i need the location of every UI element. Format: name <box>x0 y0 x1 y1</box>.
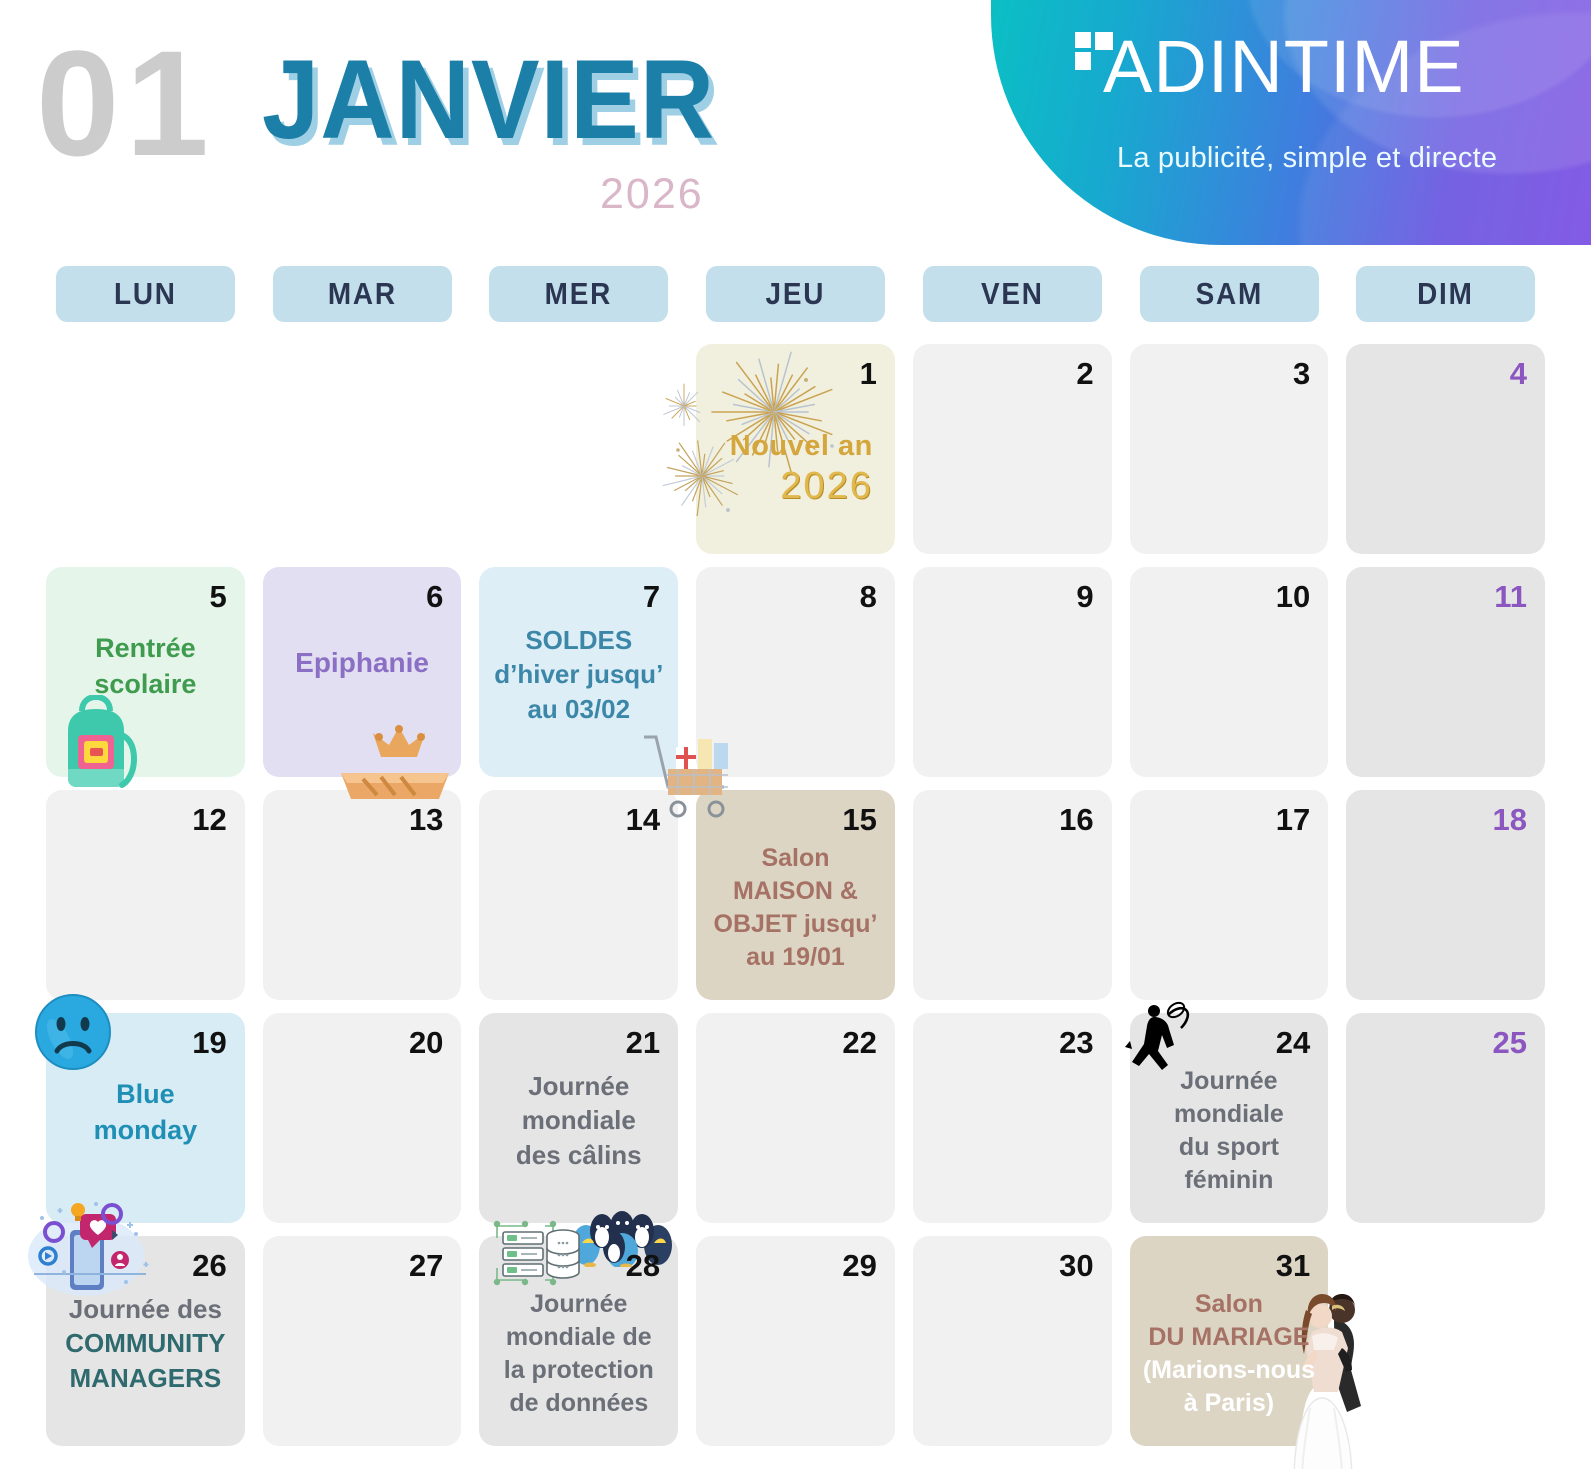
event-line: SOLDES <box>489 623 668 657</box>
calendar-day-5[interactable]: 5Rentréescolaire <box>46 567 245 777</box>
day-number-12: 12 <box>192 804 226 835</box>
day-number-29: 29 <box>842 1250 876 1281</box>
event-line: MANAGERS <box>56 1361 235 1395</box>
day-number-23: 23 <box>1059 1027 1093 1058</box>
day-number-4: 4 <box>1510 358 1527 389</box>
event-line: du sport <box>1140 1131 1319 1164</box>
calendar-day-14[interactable]: 14 <box>479 790 678 1000</box>
logo-tagline: La publicité, simple et directe <box>1117 142 1497 175</box>
calendar-day-10[interactable]: 10 <box>1130 567 1329 777</box>
event-line: féminin <box>1140 1164 1319 1197</box>
calendar-day-6[interactable]: 6Epiphanie <box>263 567 462 777</box>
event-line: Epiphanie <box>273 645 452 682</box>
calendar-day-13[interactable]: 13 <box>263 790 462 1000</box>
day-number-16: 16 <box>1059 804 1093 835</box>
day-number-26: 26 <box>192 1250 226 1281</box>
calendar-day-25[interactable]: 25 <box>1346 1013 1545 1223</box>
event-line: d’hiver jusqu’ <box>489 657 668 691</box>
event-line: la protection <box>489 1354 668 1387</box>
day-number-2: 2 <box>1076 358 1093 389</box>
event-line: 2026 <box>704 465 873 508</box>
event-text-day-31: SalonDU MARIAGE(Marions-nousà Paris) <box>1136 1288 1323 1420</box>
calendar-day-23[interactable]: 23 <box>913 1013 1112 1223</box>
day-number-31: 31 <box>1276 1250 1310 1281</box>
event-text-day-7: SOLDESd’hiver jusqu’au 03/02 <box>485 623 672 726</box>
day-number-14: 14 <box>626 804 660 835</box>
logo-wordmark: ADINTIME <box>1103 30 1465 104</box>
calendar-cell-empty <box>263 344 462 554</box>
event-text-day-28: Journéemondiale dela protectionde donnée… <box>485 1288 672 1420</box>
event-line: monday <box>56 1113 235 1149</box>
day-number-5: 5 <box>209 581 226 612</box>
event-text-day-6: Epiphanie <box>269 645 456 682</box>
event-text-day-15: SalonMAISON &OBJET jusqu’au 19/01 <box>702 842 889 974</box>
backpack-icon <box>48 695 144 791</box>
event-line: des câlins <box>489 1138 668 1172</box>
calendar-day-19[interactable]: 19Bluemonday <box>46 1013 245 1223</box>
day-number-3: 3 <box>1293 358 1310 389</box>
day-number-25: 25 <box>1493 1027 1527 1058</box>
sad-face-icon <box>34 993 112 1071</box>
event-line: mondiale <box>489 1103 668 1137</box>
event-line: Salon <box>1140 1288 1319 1321</box>
calendar-day-16[interactable]: 16 <box>913 790 1112 1000</box>
calendar-day-20[interactable]: 20 <box>263 1013 462 1223</box>
day-number-15: 15 <box>842 804 876 835</box>
calendar-day-4[interactable]: 4 <box>1346 344 1545 554</box>
weekday-header-mer: MER <box>489 266 668 322</box>
day-number-10: 10 <box>1276 581 1310 612</box>
event-line: DU MARIAGE <box>1140 1321 1319 1354</box>
month-name: JANVIER <box>262 44 715 156</box>
calendar-day-12[interactable]: 12 <box>46 790 245 1000</box>
page-header: 01 JANVIER 2026 ADINTIME La publicité, s… <box>0 0 1591 252</box>
calendar-day-21[interactable]: 21Journéemondialedes câlins <box>479 1013 678 1223</box>
event-line: scolaire <box>56 667 235 703</box>
day-number-1: 1 <box>860 358 877 389</box>
calendar-day-8[interactable]: 8 <box>696 567 895 777</box>
event-line: (Marions-nous <box>1140 1354 1319 1387</box>
calendar-day-22[interactable]: 22 <box>696 1013 895 1223</box>
day-number-18: 18 <box>1493 804 1527 835</box>
event-line: Salon <box>706 842 885 875</box>
event-line: Journée des <box>56 1292 235 1326</box>
weekday-header-mar: MAR <box>273 266 452 322</box>
event-text-day-21: Journéemondialedes câlins <box>485 1069 672 1172</box>
event-line: Blue <box>56 1077 235 1113</box>
day-number-22: 22 <box>842 1027 876 1058</box>
weekday-header-row: LUNMARMERJEUVENSAMDIM <box>0 266 1591 322</box>
day-number-17: 17 <box>1276 804 1310 835</box>
event-line: mondiale <box>1140 1098 1319 1131</box>
calendar-day-7[interactable]: 7SOLDESd’hiver jusqu’au 03/02 <box>479 567 678 777</box>
event-line: mondiale de <box>489 1321 668 1354</box>
event-text-day-19: Bluemonday <box>52 1077 239 1148</box>
calendar-day-26[interactable]: 26Journée desCOMMUNITYMANAGERS <box>46 1236 245 1446</box>
day-number-21: 21 <box>626 1027 660 1058</box>
day-number-19: 19 <box>192 1027 226 1058</box>
calendar-grid: 1Nouvel an20262345Rentréescolaire6Epipha… <box>0 344 1591 1446</box>
day-number-20: 20 <box>409 1027 443 1058</box>
calendar-day-24[interactable]: 24Journéemondialedu sportféminin <box>1130 1013 1329 1223</box>
day-number-7: 7 <box>643 581 660 612</box>
event-line: Rentrée <box>56 631 235 667</box>
day-number-11: 11 <box>1494 581 1527 612</box>
event-text-day-5: Rentréescolaire <box>52 631 239 702</box>
event-line: au 19/01 <box>706 941 885 974</box>
event-line: Nouvel an <box>704 430 873 463</box>
event-line: au 03/02 <box>489 692 668 726</box>
calendar-cell-empty <box>1346 1236 1545 1446</box>
calendar-day-1[interactable]: 1Nouvel an2026 <box>696 344 895 554</box>
calendar-day-17[interactable]: 17 <box>1130 790 1329 1000</box>
event-line: Journée <box>489 1069 668 1103</box>
day-number-28: 28 <box>626 1250 660 1281</box>
event-line: Journée <box>1140 1065 1319 1098</box>
calendar-day-2[interactable]: 2 <box>913 344 1112 554</box>
event-line: COMMUNITY <box>56 1326 235 1360</box>
month-number: 01 <box>36 28 215 178</box>
day-number-9: 9 <box>1076 581 1093 612</box>
event-line: Journée <box>489 1288 668 1321</box>
event-text-day-24: Journéemondialedu sportféminin <box>1136 1065 1323 1197</box>
year-label: 2026 <box>600 170 704 219</box>
brand-logo: ADINTIME La publicité, simple et directe <box>991 0 1591 245</box>
weekday-header-sam: SAM <box>1139 266 1318 322</box>
day-number-24: 24 <box>1276 1027 1310 1058</box>
weekday-header-jeu: JEU <box>706 266 885 322</box>
day-number-30: 30 <box>1059 1250 1093 1281</box>
event-text-day-26: Journée desCOMMUNITYMANAGERS <box>52 1292 239 1395</box>
calendar-day-28[interactable]: 28Journéemondiale dela protectionde donn… <box>479 1236 678 1446</box>
calendar-cell-empty <box>46 344 245 554</box>
calendar-day-27[interactable]: 27 <box>263 1236 462 1446</box>
event-line: à Paris) <box>1140 1387 1319 1420</box>
event-line: OBJET jusqu’ <box>706 908 885 941</box>
day-number-27: 27 <box>409 1250 443 1281</box>
calendar-day-11[interactable]: 11 <box>1346 567 1545 777</box>
calendar-day-3[interactable]: 3 <box>1130 344 1329 554</box>
calendar-cell-empty <box>479 344 678 554</box>
event-line: MAISON & <box>706 875 885 908</box>
day-number-13: 13 <box>409 804 443 835</box>
event-nouvel-an: Nouvel an2026 <box>704 430 887 508</box>
weekday-header-ven: VEN <box>923 266 1102 322</box>
calendar-page: 01 JANVIER 2026 ADINTIME La publicité, s… <box>0 0 1591 1469</box>
calendar-day-15[interactable]: 15SalonMAISON &OBJET jusqu’au 19/01 <box>696 790 895 1000</box>
weekday-header-lun: LUN <box>56 266 235 322</box>
weekday-header-dim: DIM <box>1356 266 1535 322</box>
data-server-icon <box>487 1216 583 1292</box>
calendar-day-18[interactable]: 18 <box>1346 790 1545 1000</box>
calendar-day-29[interactable]: 29 <box>696 1236 895 1446</box>
calendar-day-9[interactable]: 9 <box>913 567 1112 777</box>
calendar-day-30[interactable]: 30 <box>913 1236 1112 1446</box>
calendar-day-31[interactable]: 31SalonDU MARIAGE(Marions-nousà Paris) <box>1130 1236 1329 1446</box>
day-number-6: 6 <box>426 581 443 612</box>
event-line: de données <box>489 1387 668 1420</box>
day-number-8: 8 <box>860 581 877 612</box>
